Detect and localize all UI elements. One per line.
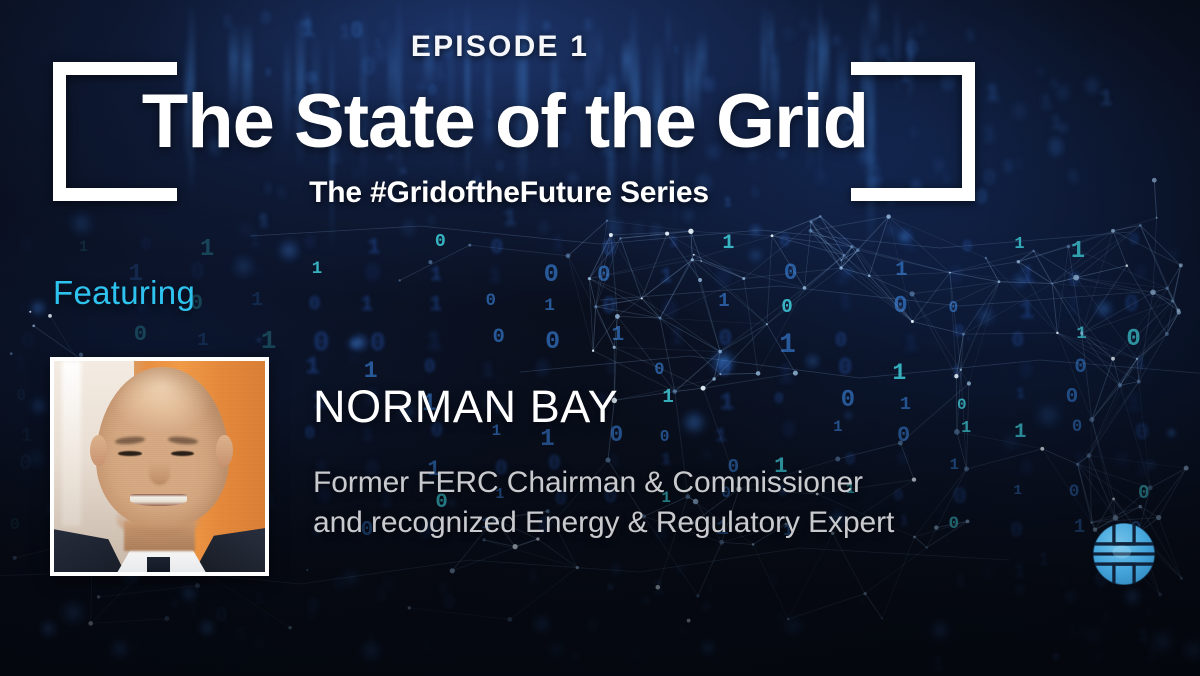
speaker-photo bbox=[50, 357, 269, 576]
speaker-role: Former FERC Chairman & Commissioner and … bbox=[313, 463, 894, 543]
speaker-photo-image bbox=[54, 361, 265, 572]
speaker-name: NORMAN BAY bbox=[313, 381, 618, 433]
episode-label: EPISODE 1 bbox=[0, 30, 1000, 64]
speaker-role-line-2: and recognized Energy & Regulatory Exper… bbox=[313, 503, 894, 543]
featuring-label: Featuring bbox=[53, 274, 195, 312]
series-subtitle: The #GridoftheFuture Series bbox=[0, 176, 1018, 210]
page-title: The State of the Grid bbox=[0, 84, 1010, 160]
speaker-role-line-1: Former FERC Chairman & Commissioner bbox=[313, 463, 894, 503]
photo-grain bbox=[54, 361, 265, 572]
podcast-episode-banner: 0101101001011001011010100101100100110100… bbox=[0, 0, 1200, 676]
pinwheel-circle-logo bbox=[1088, 518, 1160, 590]
